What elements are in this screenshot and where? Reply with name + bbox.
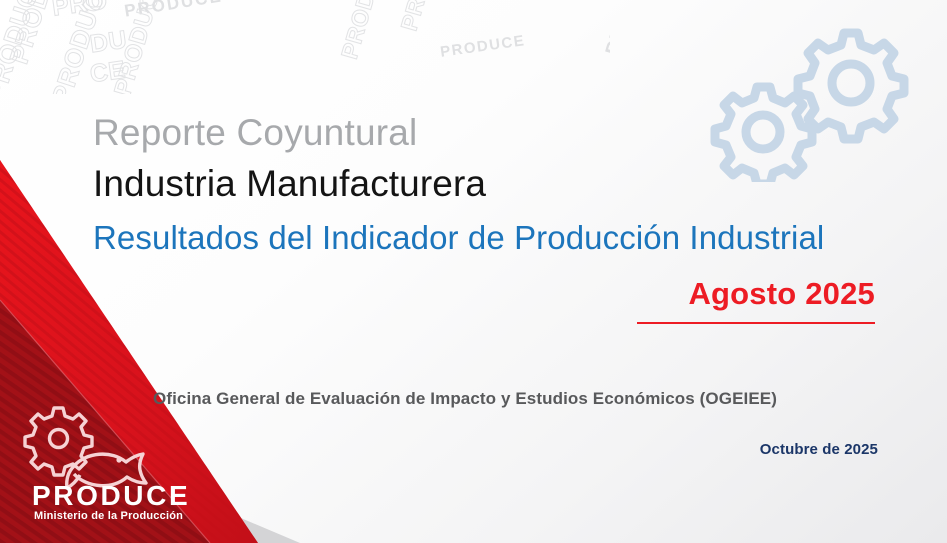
watermark-text: PRODUCE bbox=[439, 32, 526, 61]
reference-month: Agosto 2025 bbox=[688, 276, 875, 312]
reference-month-underline bbox=[637, 322, 875, 324]
logo-tagline: Ministerio de la Producción bbox=[34, 510, 183, 522]
produce-logo: PRODUCE Ministerio de la Producción bbox=[14, 402, 214, 534]
gears-icon bbox=[694, 22, 934, 182]
watermark-text: PRODUCE bbox=[602, 0, 610, 58]
page-subtitle: Resultados del Indicador de Producción I… bbox=[93, 219, 824, 257]
logo-wordmark: PRODUCE bbox=[32, 480, 190, 512]
office-name: Oficina General de Evaluación de Impacto… bbox=[153, 389, 777, 409]
page-title: Industria Manufacturera bbox=[93, 163, 486, 205]
watermark-text: PRODUCE bbox=[336, 0, 395, 62]
watermark-text: PRO bbox=[396, 0, 436, 34]
cover-slide: PRODUCE PRODUCE PRO DU CE PRODUCE PRODUC… bbox=[0, 0, 947, 543]
eyebrow-title: Reporte Coyuntural bbox=[93, 112, 417, 154]
publication-date: Octubre de 2025 bbox=[760, 441, 878, 458]
